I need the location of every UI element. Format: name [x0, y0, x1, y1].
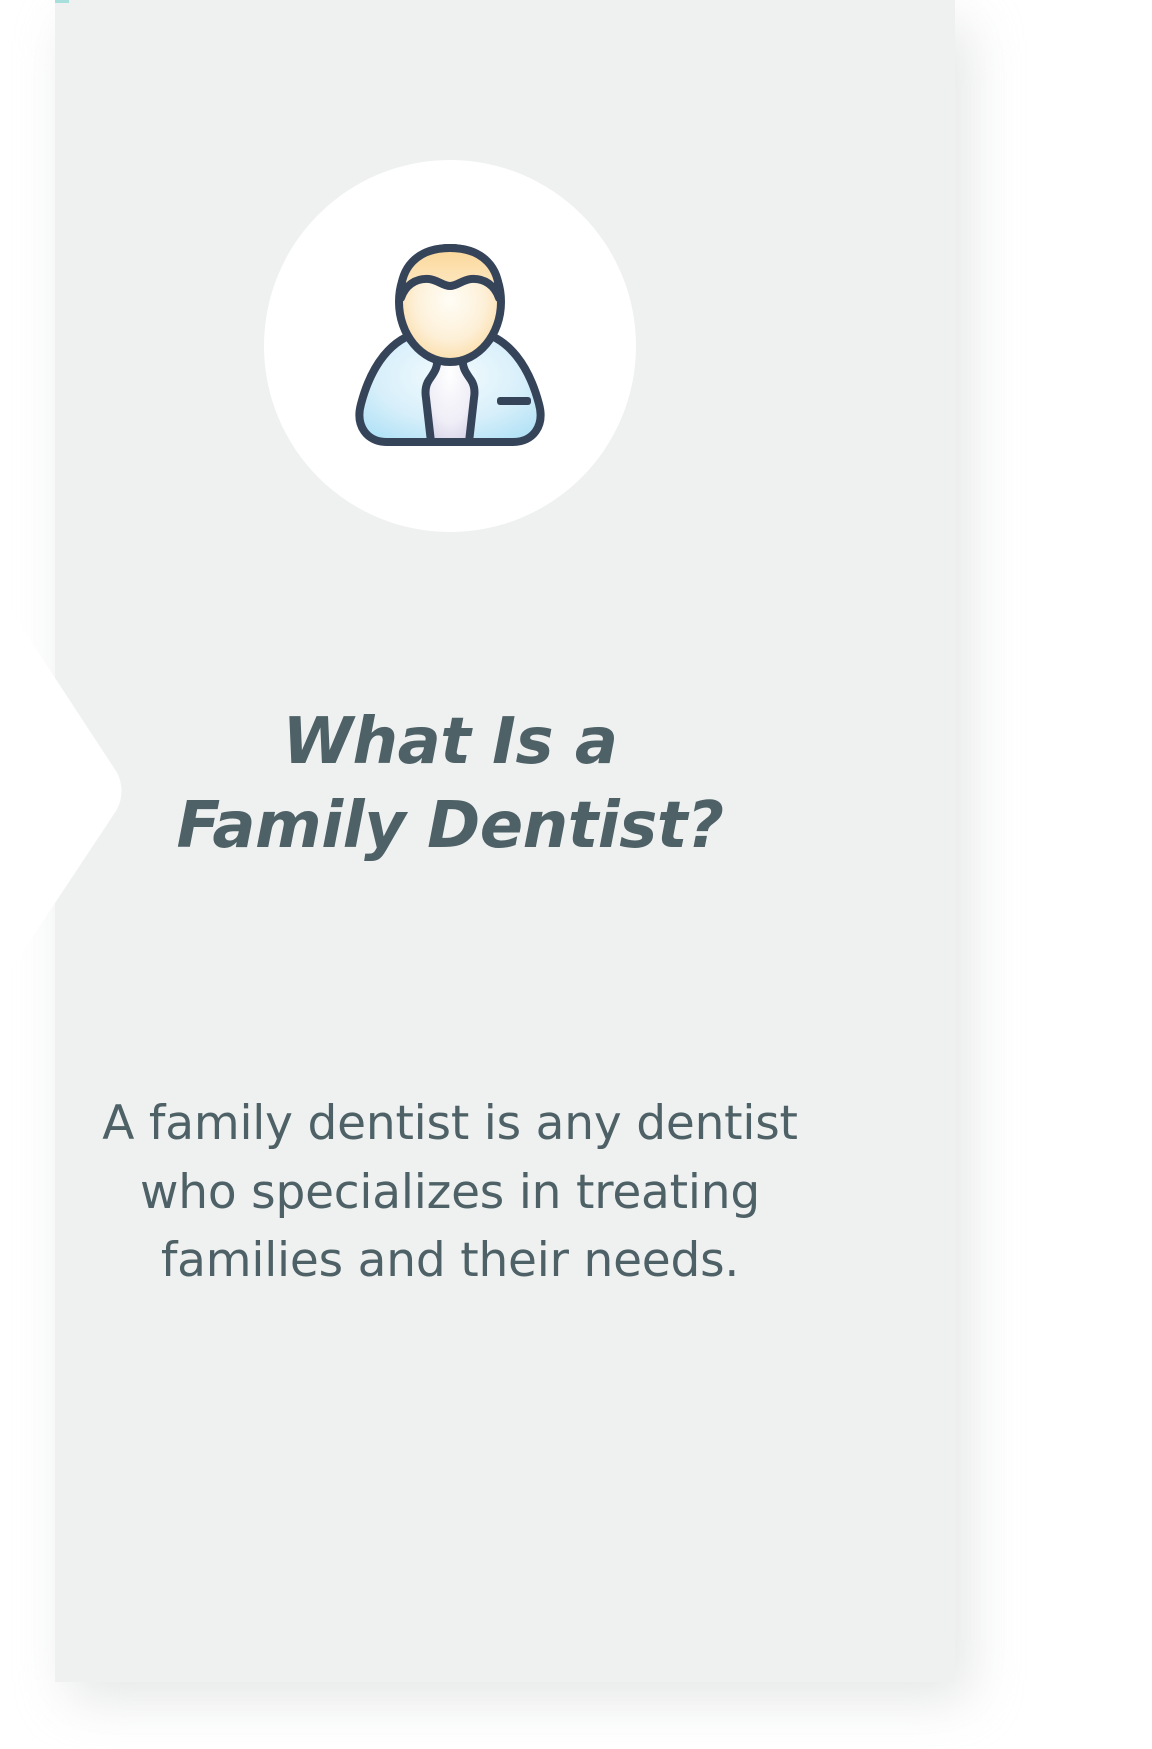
card-headline: What Is a Family Dentist?	[0, 700, 900, 869]
card-top-accent	[55, 0, 69, 3]
icon-circle-background	[264, 160, 636, 532]
card-body-copy: A family dentist is any dentist who spec…	[0, 1090, 900, 1296]
icon-container	[0, 156, 900, 536]
headline-line-1: What Is a	[0, 700, 900, 784]
avatar-pocket-dash	[497, 397, 531, 405]
body-line-3: families and their needs.	[0, 1227, 900, 1296]
body-line-1: A family dentist is any dentist	[0, 1090, 900, 1159]
body-line-2: who specializes in treating	[0, 1159, 900, 1228]
page-stage: What Is a Family Dentist? A family denti…	[0, 0, 1152, 1749]
headline-line-2: Family Dentist?	[0, 784, 900, 868]
dentist-avatar-icon	[345, 234, 555, 458]
